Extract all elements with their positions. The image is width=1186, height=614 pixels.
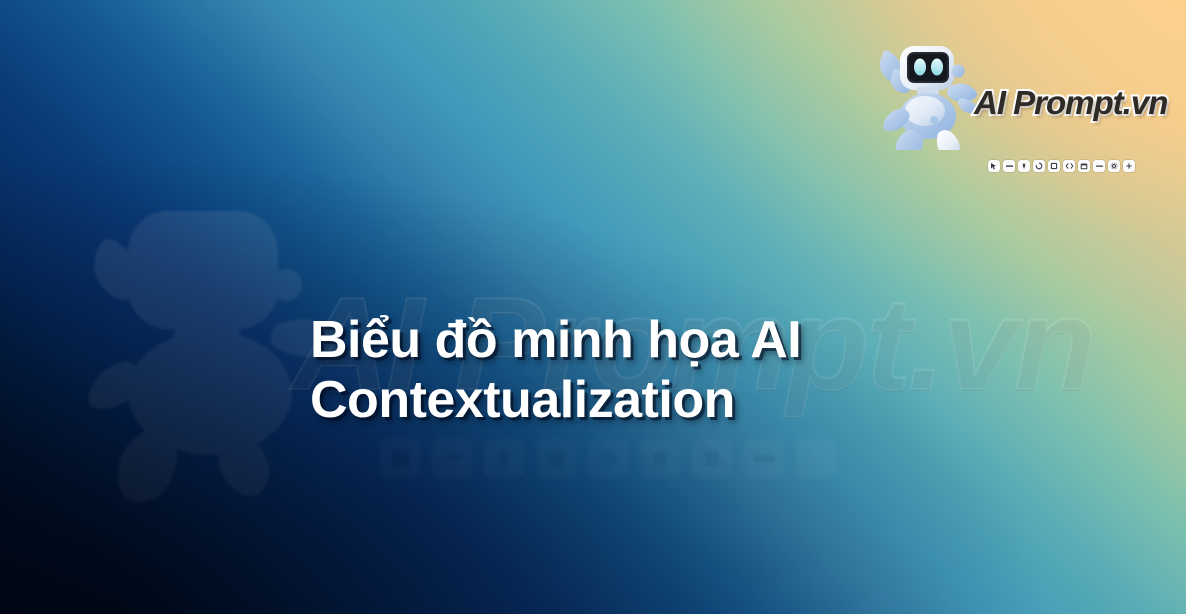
brand-logo[interactable]: AI Prompt.vn (876, 34, 1148, 152)
watermark-bar-icon (744, 438, 784, 478)
watermark-clock-icon (796, 438, 836, 478)
brand-toolbar-strip (988, 160, 1135, 172)
square-icon (1048, 160, 1060, 172)
page-title-line-2: Contextualization (310, 370, 930, 430)
cursor-arrow-icon (988, 160, 1000, 172)
watermark-dash-icon (432, 438, 472, 478)
dash-icon (1093, 160, 1105, 172)
calendar-icon (1078, 160, 1090, 172)
page-title-line-1: Biểu đồ minh họa AI (310, 310, 930, 370)
code-brackets-icon (1063, 160, 1075, 172)
pen-icon (1018, 160, 1030, 172)
page-title: Biểu đồ minh họa AI Contextualization (310, 310, 930, 431)
brand-logo-text: AI Prompt.vn (974, 84, 1167, 122)
minus-dash-icon (1003, 160, 1015, 172)
refresh-icon (1033, 160, 1045, 172)
watermark-droplet-icon (640, 438, 680, 478)
hero-banner: AI Prompt.vn Biểu đồ minh họa AI Context… (0, 0, 1186, 614)
watermark-pen-icon (484, 438, 524, 478)
plus-icon (1123, 160, 1135, 172)
watermark-note-icon (692, 438, 732, 478)
gear-icon (1108, 160, 1120, 172)
watermark-arrow-icon (380, 438, 420, 478)
watermark-refresh-icon (536, 438, 576, 478)
watermark-icon-strip (380, 438, 836, 478)
watermark-circle-icon (588, 438, 628, 478)
